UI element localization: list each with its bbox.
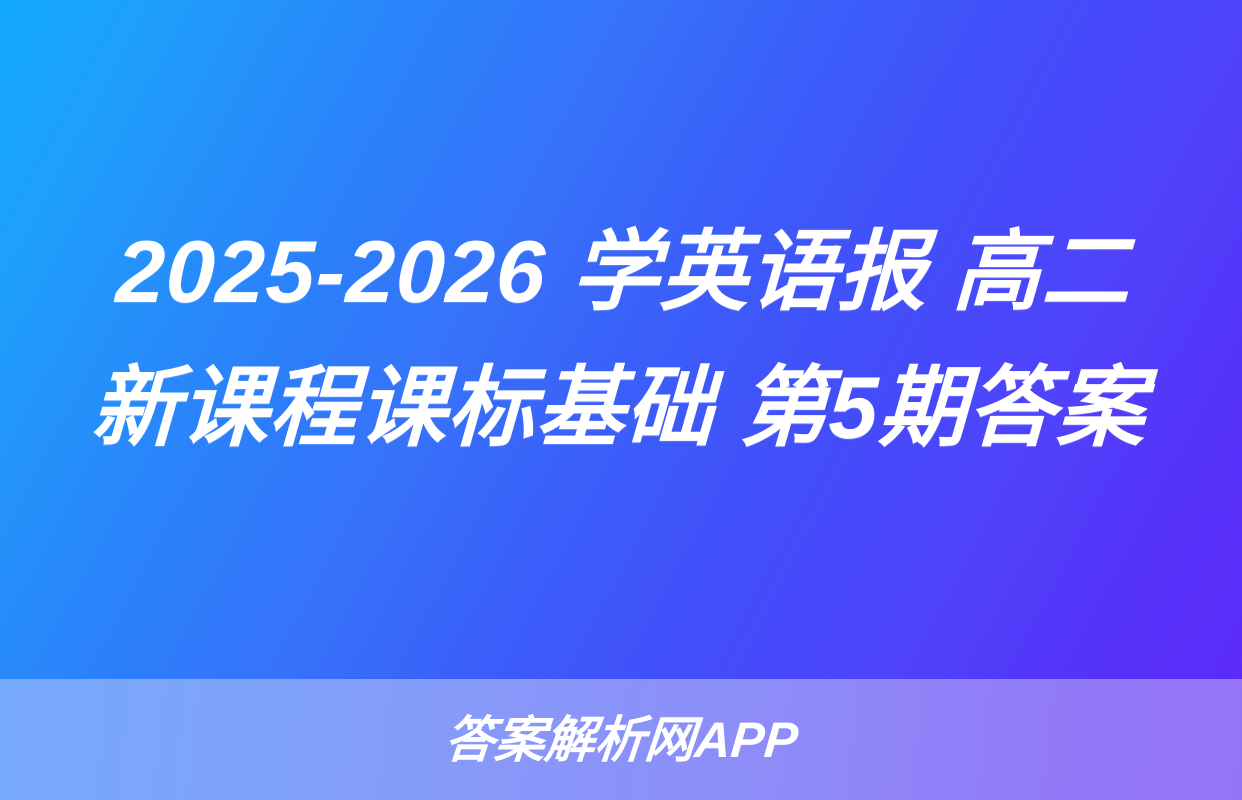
footer-brand-bar: 答案解析网APP	[0, 679, 1242, 800]
title-block: 2025-2026 学英语报 高二 新课程课标基础 第5期答案	[0, 0, 1242, 679]
footer-brand-label: 答案解析网APP	[442, 715, 799, 765]
answer-cover-card: 2025-2026 学英语报 高二 新课程课标基础 第5期答案 答案解析网APP	[0, 0, 1242, 800]
page-title: 2025-2026 学英语报 高二 新课程课标基础 第5期答案	[53, 204, 1188, 476]
